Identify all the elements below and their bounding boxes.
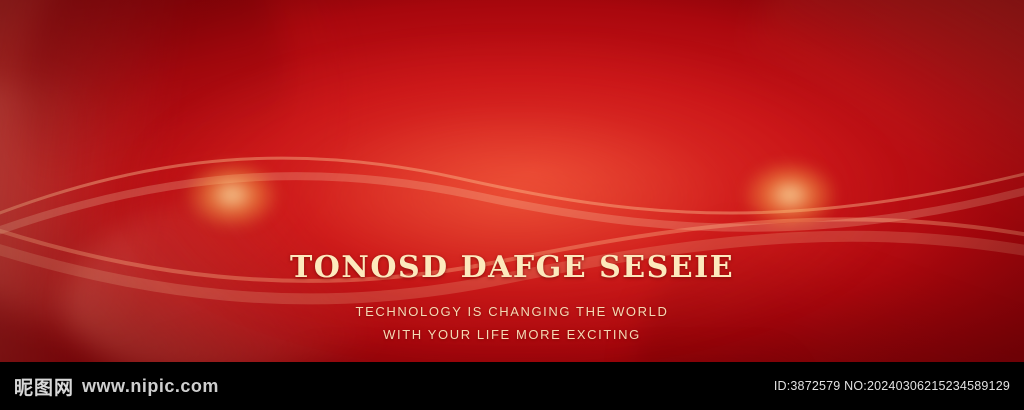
poster-canvas: 乘风破浪梦想启航 TONOSD DAFGE SESEIE TECHNOLOGY … (0, 0, 1024, 410)
vignette-overlay (0, 0, 1024, 410)
watermark-bar: 昵图网 www.nipic.com ID:3872579 NO:20240306… (0, 362, 1024, 410)
headline: 乘风破浪梦想启航 (0, 104, 1024, 180)
subtitle-english: TONOSD DAFGE SESEIE (0, 250, 1024, 285)
headline-primary: 乘风破浪 (171, 97, 499, 186)
brand-logo-text: 昵图网 (14, 373, 74, 400)
tagline-line-1: TECHNOLOGY IS CHANGING THE WORLD (0, 304, 1024, 319)
headline-secondary: 梦想启航 (525, 97, 853, 186)
brand-watermark: 昵图网 www.nipic.com (14, 373, 219, 400)
tagline-line-2: WITH YOUR LIFE MORE EXCITING (0, 327, 1024, 342)
brand-website-url: www.nipic.com (82, 376, 219, 397)
asset-id-label: ID:3872579 NO:20240306215234589129 (774, 379, 1010, 393)
